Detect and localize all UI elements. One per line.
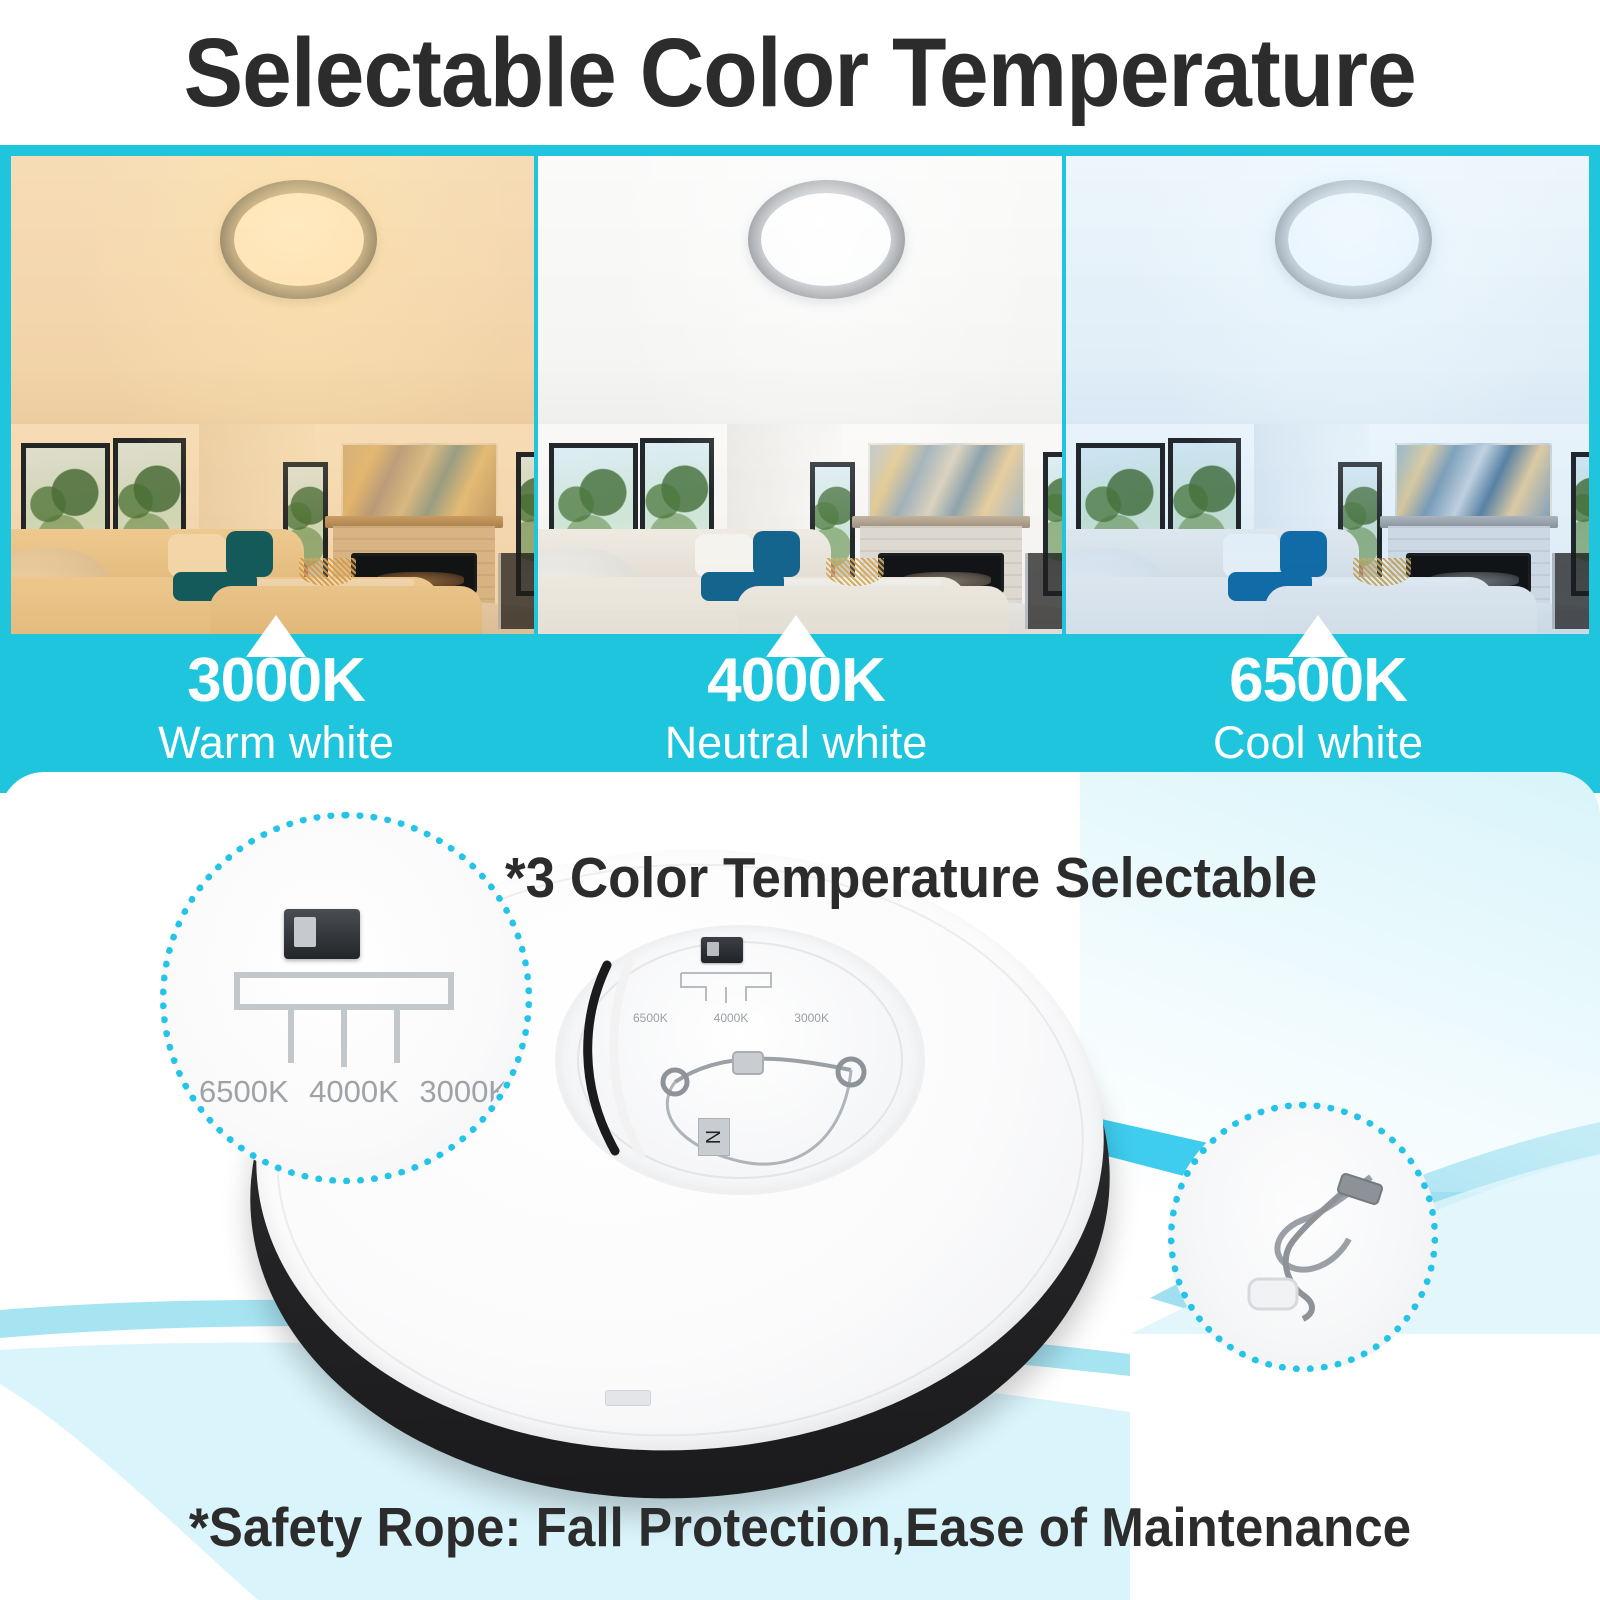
dip-switch-zoomed	[284, 909, 360, 959]
accent-chair	[1025, 553, 1062, 629]
kelvin-name-neutral: Neutral white	[616, 720, 976, 765]
room-photo-warm	[11, 156, 534, 634]
carabiner-hook-icon	[1231, 1161, 1401, 1331]
pillow-cream	[168, 534, 226, 577]
light-lens	[234, 193, 364, 286]
safety-rope-zoom-circle	[1168, 1102, 1438, 1372]
neutral-wire-tag: N	[698, 1118, 730, 1156]
page-title: Selectable Color Temperature	[0, 0, 1600, 145]
wall-artwork	[1395, 443, 1552, 519]
ceiling-light-fixture	[1275, 180, 1432, 300]
page-title-text: Selectable Color Temperature	[184, 24, 1416, 121]
ceiling-light-fixture	[220, 180, 377, 300]
callout-heading: *3 Color Temperature Selectable	[505, 845, 1342, 911]
dip-label-3000k: 3000K	[794, 1011, 829, 1025]
wall-artwork	[341, 443, 498, 519]
pillow-cream	[695, 534, 753, 577]
gold-bowl	[826, 558, 884, 587]
room-photo-neutral	[538, 156, 1061, 634]
kelvin-label-cool: 6500K Cool white	[1138, 650, 1498, 765]
light-lens	[1288, 193, 1418, 286]
wall-artwork	[868, 443, 1025, 519]
pillow-cream	[1223, 534, 1281, 577]
dip-switch-zoom-labels: 6500K 4000K 3000K	[199, 1074, 509, 1110]
dip-switch-diagram-zoomed	[219, 967, 469, 1077]
dip-switch-zoom-circle: 6500K 4000K 3000K	[160, 812, 532, 1184]
zoom-label-4000k: 4000K	[309, 1074, 399, 1110]
kelvin-label-neutral: 4000K Neutral white	[616, 650, 976, 765]
accent-chair	[1552, 553, 1589, 629]
mounting-plate: 6500K 4000K 3000K N	[555, 925, 925, 1195]
accent-chair	[498, 553, 535, 629]
disc-clip-tab	[605, 1390, 651, 1406]
pillow-teal	[1280, 531, 1327, 576]
light-lens	[761, 193, 891, 286]
kelvin-name-warm: Warm white	[96, 720, 456, 765]
room-photo-cool	[1066, 156, 1589, 634]
kelvin-value-warm: 3000K	[96, 650, 456, 712]
gold-bowl	[1353, 558, 1411, 587]
bottom-caption: *Safety Rope: Fall Protection,Ease of Ma…	[56, 1495, 1544, 1559]
ceiling-light-fixture	[748, 180, 905, 300]
room-photo-strip	[11, 156, 1589, 634]
kelvin-value-cool: 6500K	[1138, 650, 1498, 712]
pillow-teal	[226, 531, 273, 576]
zoom-label-6500k: 6500K	[199, 1074, 289, 1110]
kelvin-value-neutral: 4000K	[616, 650, 976, 712]
pillow-teal	[753, 531, 800, 576]
zoom-label-3000k: 3000K	[419, 1074, 509, 1110]
kelvin-name-cool: Cool white	[1138, 720, 1498, 765]
kelvin-label-warm: 3000K Warm white	[96, 650, 456, 765]
